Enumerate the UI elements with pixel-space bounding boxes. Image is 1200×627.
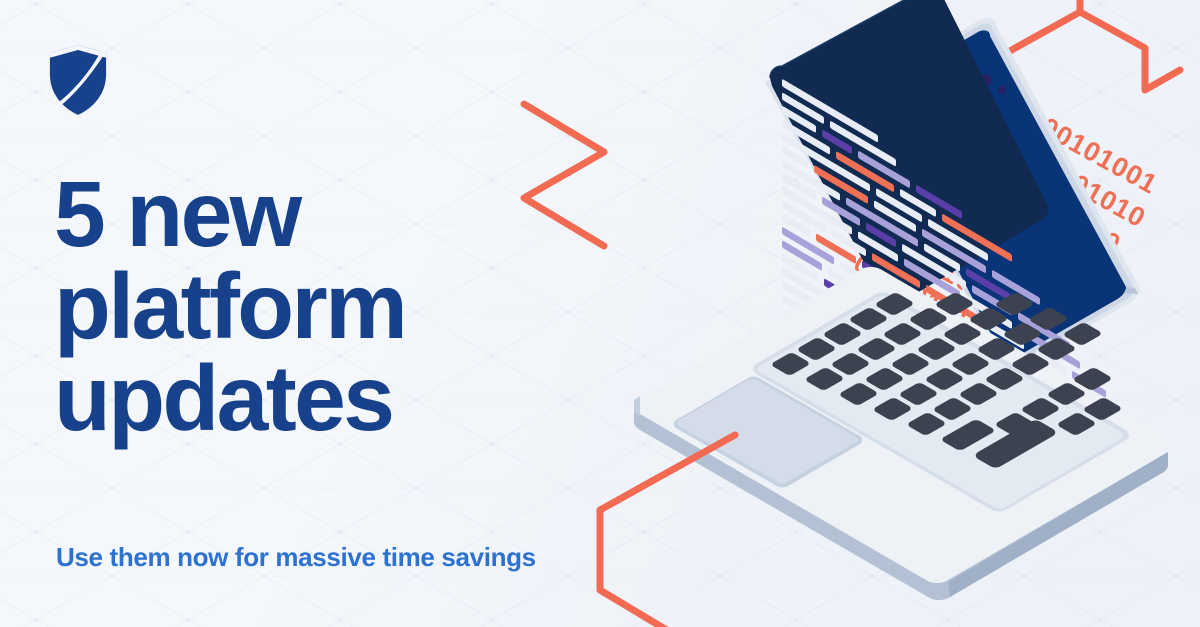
page-subtitle: Use them now for massive time savings xyxy=(56,542,536,573)
page-title: 5 new platform updates xyxy=(54,168,574,444)
hero-banner: 5 new platform updates Use them now for … xyxy=(0,0,1200,627)
shield-logo-icon xyxy=(47,44,109,116)
laptop-illustration: 01011010100101001 010101011010101010 101… xyxy=(560,0,1200,627)
